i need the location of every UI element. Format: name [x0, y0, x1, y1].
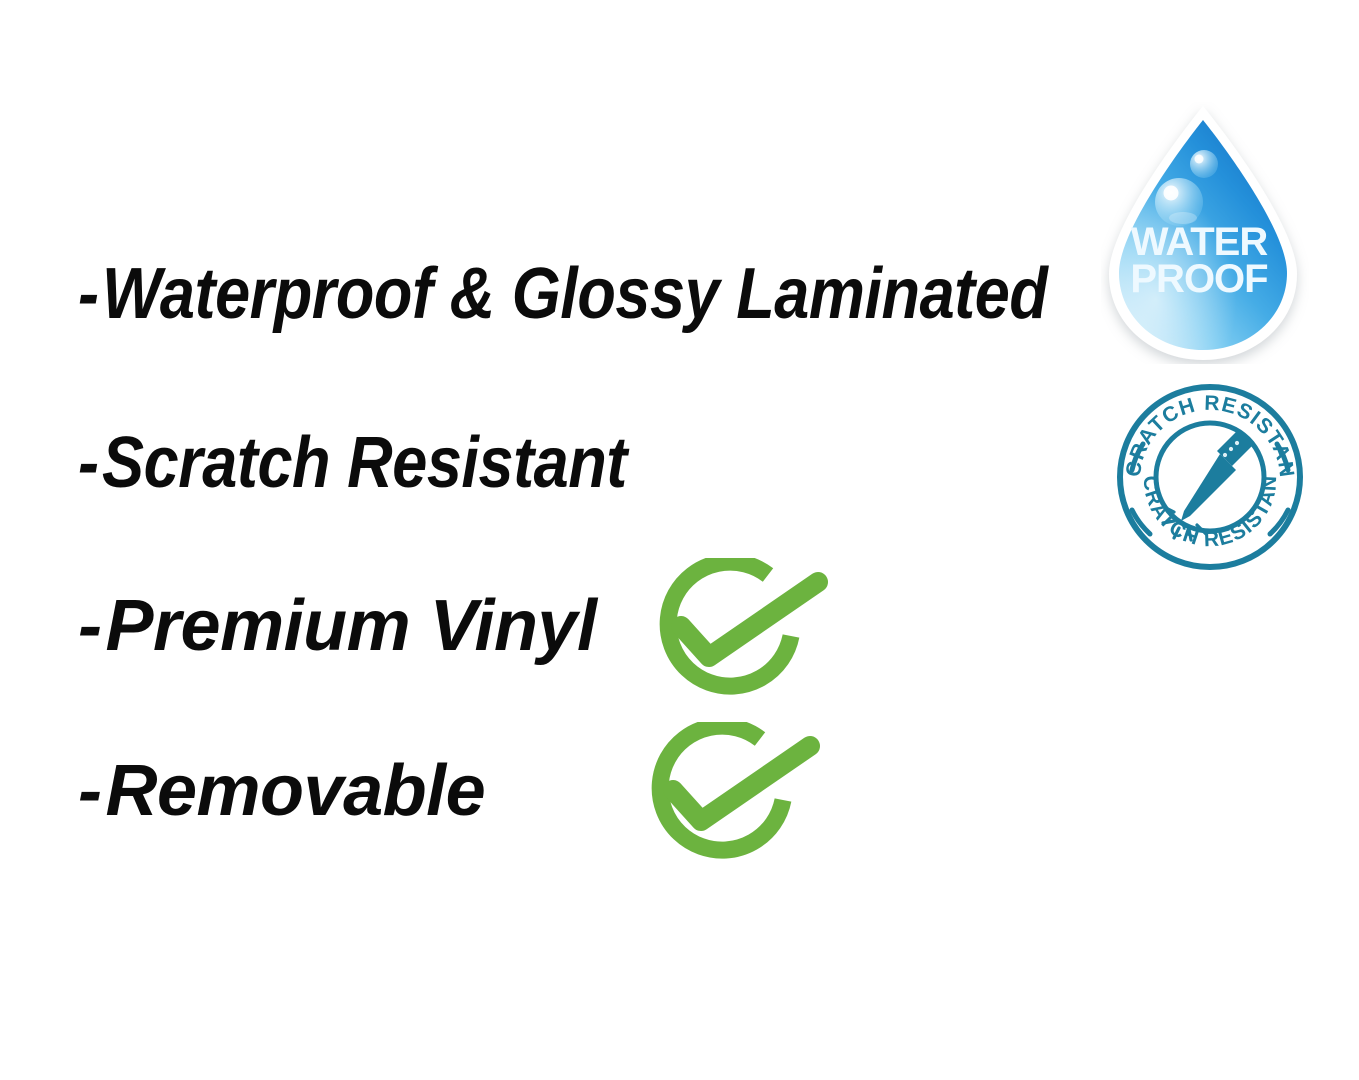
bubble-large-lowlight — [1169, 212, 1197, 224]
check-mark-stroke — [673, 746, 810, 821]
bubble-small-glint — [1195, 155, 1204, 164]
feature-list: -Waterproof & Glossy Laminated -Scratch … — [0, 0, 1100, 1080]
scratch-resistant-seal-badge: SCRATCH RESISTANT SCRATCH RESISTANT — [1112, 382, 1308, 572]
feature-item-removable: -Removable — [78, 755, 485, 827]
knife-rivet-1 — [1235, 441, 1239, 445]
knife-blade — [1181, 454, 1236, 521]
bullet-dash: - — [78, 590, 101, 662]
check-circle-icon — [638, 558, 835, 708]
bubble-small-icon — [1190, 150, 1218, 178]
check-circle-premium-vinyl — [638, 558, 835, 708]
check-circle-removable — [630, 722, 827, 872]
bullet-dash: - — [78, 755, 101, 827]
seal-top-text: SCRATCH RESISTANT — [1112, 382, 1298, 479]
feature-item-premium-vinyl: -Premium Vinyl — [78, 590, 596, 662]
impact-line-2 — [1163, 521, 1174, 523]
knife-rivet-3 — [1223, 453, 1227, 457]
impact-line-4 — [1189, 529, 1191, 540]
feature-item-waterproof: -Waterproof & Glossy Laminated — [78, 258, 1047, 330]
water-drop-icon — [1101, 102, 1309, 364]
knife-rivet-2 — [1229, 447, 1233, 451]
feature-item-label: Premium Vinyl — [105, 586, 596, 666]
waterproof-drop-badge: WATER PROOF — [1101, 102, 1309, 364]
feature-highlights-graphic: -Waterproof & Glossy Laminated -Scratch … — [0, 0, 1359, 1080]
check-mark-stroke — [681, 582, 818, 657]
check-circle-icon — [630, 722, 827, 872]
bubble-large-glint — [1164, 186, 1179, 201]
bullet-dash: - — [78, 427, 99, 499]
feature-item-label: Removable — [105, 751, 485, 831]
scratch-resistant-seal-icon: SCRATCH RESISTANT SCRATCH RESISTANT — [1112, 382, 1308, 572]
bullet-dash: - — [78, 258, 99, 330]
feature-item-scratch-resistant: -Scratch Resistant — [78, 427, 627, 499]
feature-item-label: Waterproof & Glossy Laminated — [102, 254, 1047, 334]
feature-item-label: Scratch Resistant — [102, 423, 627, 503]
